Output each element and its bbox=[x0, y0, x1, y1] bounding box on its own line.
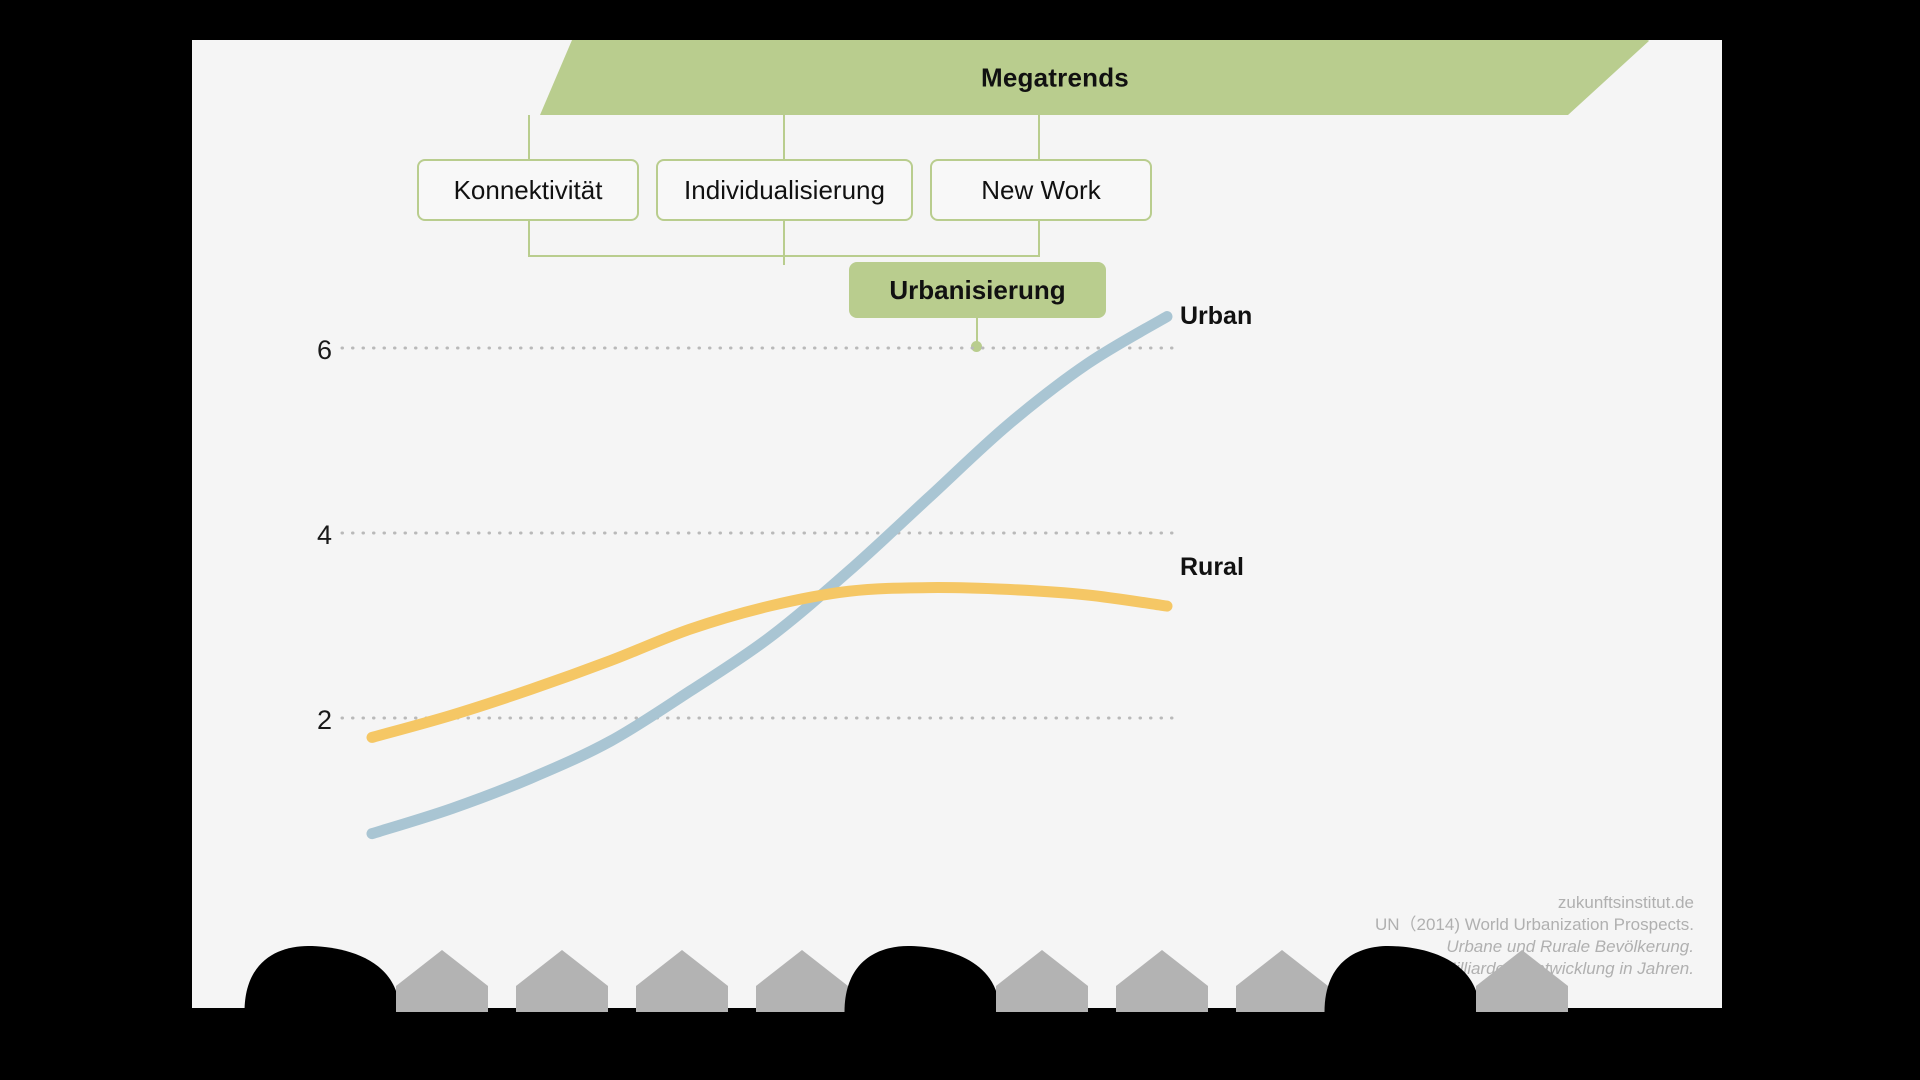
population-line-chart: 6 4 2 Urban Rural bbox=[192, 40, 1722, 1040]
house-silhouette-6 bbox=[996, 950, 1088, 1012]
y-axis-tick-6: 6 bbox=[292, 335, 332, 366]
screenshot-stage: Megatrends Konnektivität Individualisier… bbox=[0, 0, 1920, 1080]
frame-bottom bbox=[0, 1040, 1920, 1080]
chart-line-rural bbox=[372, 588, 1167, 738]
house-silhouette-1 bbox=[396, 950, 488, 1012]
infographic-canvas: Megatrends Konnektivität Individualisier… bbox=[192, 40, 1722, 1040]
house-silhouette-3 bbox=[636, 950, 728, 1012]
frame-top bbox=[0, 0, 1920, 40]
house-silhouette-10 bbox=[1476, 950, 1568, 1012]
chart-line-urban bbox=[372, 317, 1167, 834]
frame-left bbox=[0, 0, 192, 1080]
chart-svg bbox=[192, 40, 1722, 1040]
y-axis-tick-4: 4 bbox=[292, 520, 332, 551]
house-silhouette-8 bbox=[1236, 950, 1328, 1012]
house-silhouette-dark-0 bbox=[245, 946, 400, 1012]
house-silhouette-dark-9 bbox=[1325, 946, 1480, 1012]
house-silhouette-4 bbox=[756, 950, 848, 1012]
credit-line-site: zukunftsinstitut.de bbox=[1054, 892, 1694, 914]
house-silhouette-7 bbox=[1116, 950, 1208, 1012]
series-label-rural: Rural bbox=[1180, 553, 1244, 582]
house-silhouette-dark-5 bbox=[845, 946, 1000, 1012]
series-label-urban: Urban bbox=[1180, 302, 1252, 331]
y-axis-tick-2: 2 bbox=[292, 705, 332, 736]
ground-strip bbox=[192, 1008, 1722, 1040]
house-silhouette-2 bbox=[516, 950, 608, 1012]
frame-right bbox=[1722, 0, 1920, 1080]
house-skyline-decoration bbox=[192, 920, 1722, 1040]
